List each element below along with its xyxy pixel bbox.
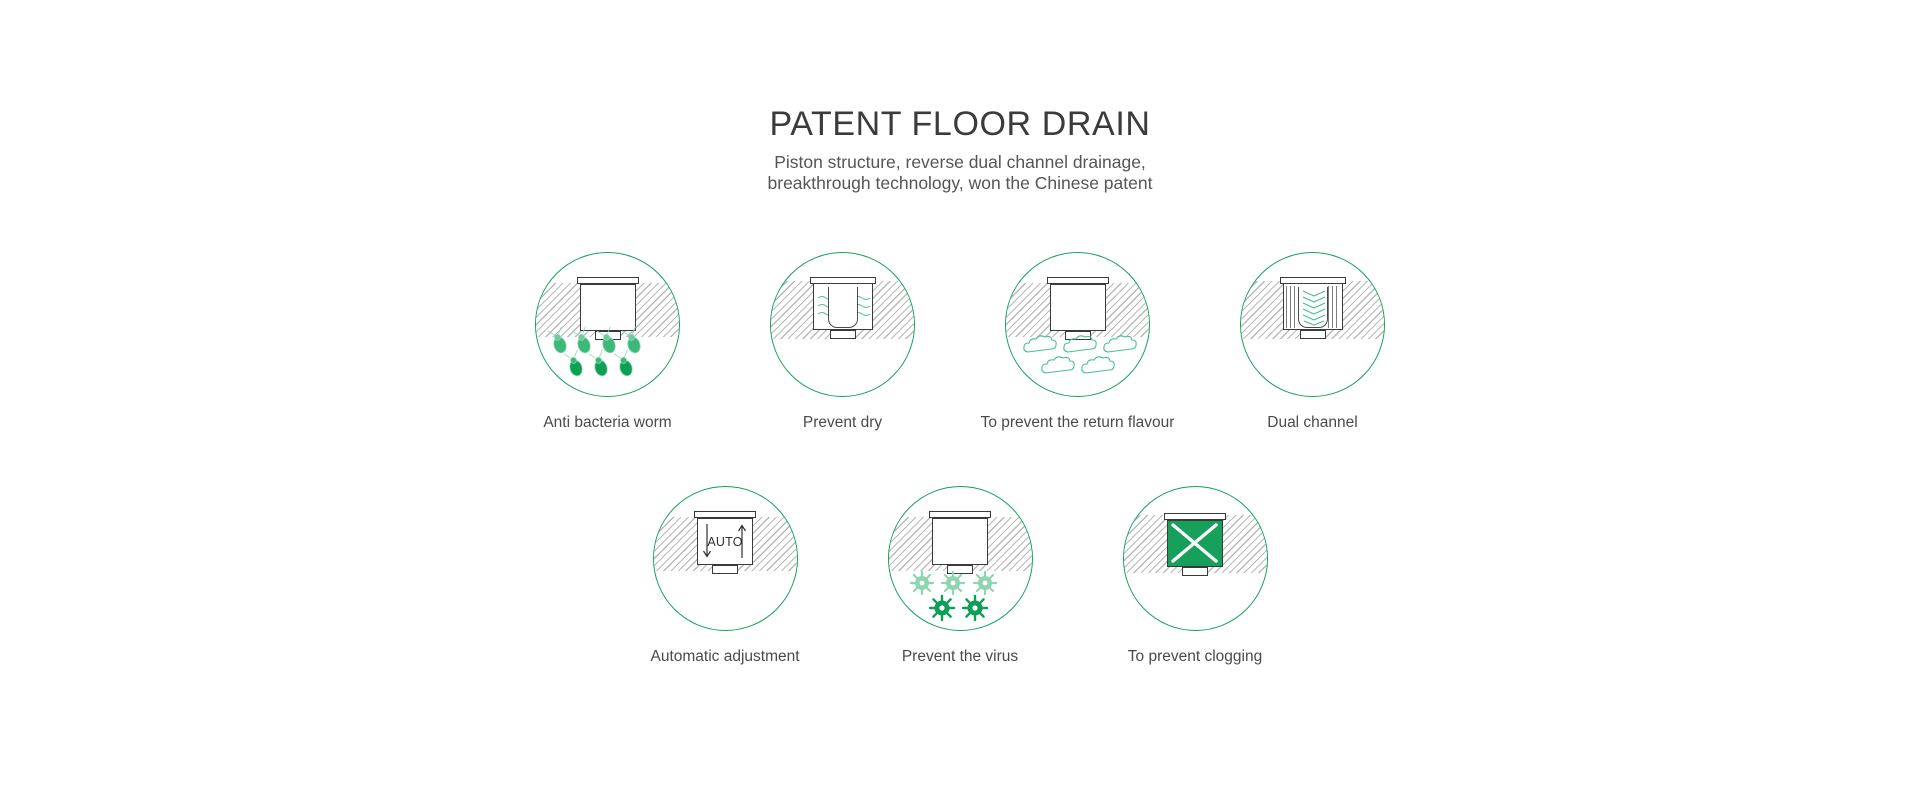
icon-wrap: AUTO [653,486,798,631]
drain-cup: AUTO [697,518,753,565]
page-title: PATENT FLOOR DRAIN [0,104,1920,144]
drain-body-graphic: AUTO [694,511,756,574]
odour-cloud-motif-icon [1006,253,1150,397]
icon-wrap [1005,252,1150,397]
drain-with-bugs-icon [535,252,680,397]
drain-outlet-pipe [1300,330,1326,339]
icon-wrap [1240,252,1385,397]
feature-dual-channel[interactable]: Dual channel [1240,252,1385,433]
drain-flange [1280,277,1346,284]
auto-label: AUTO [698,535,752,549]
drain-outlet-pipe [1182,567,1208,576]
icon-wrap [888,486,1033,631]
icon-wrap [770,252,915,397]
dual-channel-drain-icon [1240,252,1385,397]
inner-piston-cup [1298,287,1328,328]
feature-anti-bacteria-worm[interactable]: Anti bacteria worm [535,252,680,433]
x-cross-icon [1168,521,1221,565]
bug-motif-icon [536,253,680,397]
feature-prevent-dry[interactable]: Prevent dry [770,252,915,433]
feature-prevent-the-virus[interactable]: Prevent the virus [888,486,1033,667]
anti-clog-drain-icon [1123,486,1268,631]
feature-row-2: AUTO Automatic adjustment [0,486,1920,667]
icon-wrap [535,252,680,397]
drain-shell [813,284,873,330]
page-root: PATENT FLOOR DRAIN Piston structure, rev… [0,0,1920,810]
feature-prevent-clogging[interactable]: To prevent clogging [1123,486,1268,667]
drain-flange [810,277,876,284]
drain-flange [694,511,756,518]
drain-water-seal-icon [770,252,915,397]
feature-label: Automatic adjustment [650,647,799,667]
inner-piston-cup [828,287,858,328]
feature-prevent-return-flavour[interactable]: To prevent the return flavour [1005,252,1150,433]
feature-label: Dual channel [1267,413,1357,433]
drain-body-graphic [810,277,876,339]
feature-label: To prevent clogging [1128,647,1262,667]
drain-outlet-pipe [830,330,856,339]
page-subtitle: Piston structure, reverse dual channel d… [0,152,1920,194]
drain-outlet-pipe [712,565,738,574]
drain-shell [1283,284,1343,330]
subtitle-line-1: Piston structure, reverse dual channel d… [0,152,1920,173]
drain-body-graphic [1164,513,1226,576]
drain-with-odour-clouds-icon [1005,252,1150,397]
page-header: PATENT FLOOR DRAIN Piston structure, rev… [0,104,1920,194]
feature-label: Prevent dry [803,413,882,433]
feature-row-1: Anti bacteria worm [0,252,1920,433]
feature-automatic-adjustment[interactable]: AUTO Automatic adjustment [653,486,798,667]
drain-cup-filled [1167,520,1223,567]
drain-flange [1164,513,1226,520]
subtitle-line-2: breakthrough technology, won the Chinese… [0,173,1920,194]
feature-label: Prevent the virus [902,647,1018,667]
feature-label: Anti bacteria worm [543,413,671,433]
drain-with-virus-icon [888,486,1033,631]
icon-wrap [1123,486,1268,631]
virus-motif-icon [889,487,1033,631]
drain-body-graphic [1280,277,1346,339]
feature-label: To prevent the return flavour [981,413,1175,433]
auto-adjust-drain-icon: AUTO [653,486,798,631]
